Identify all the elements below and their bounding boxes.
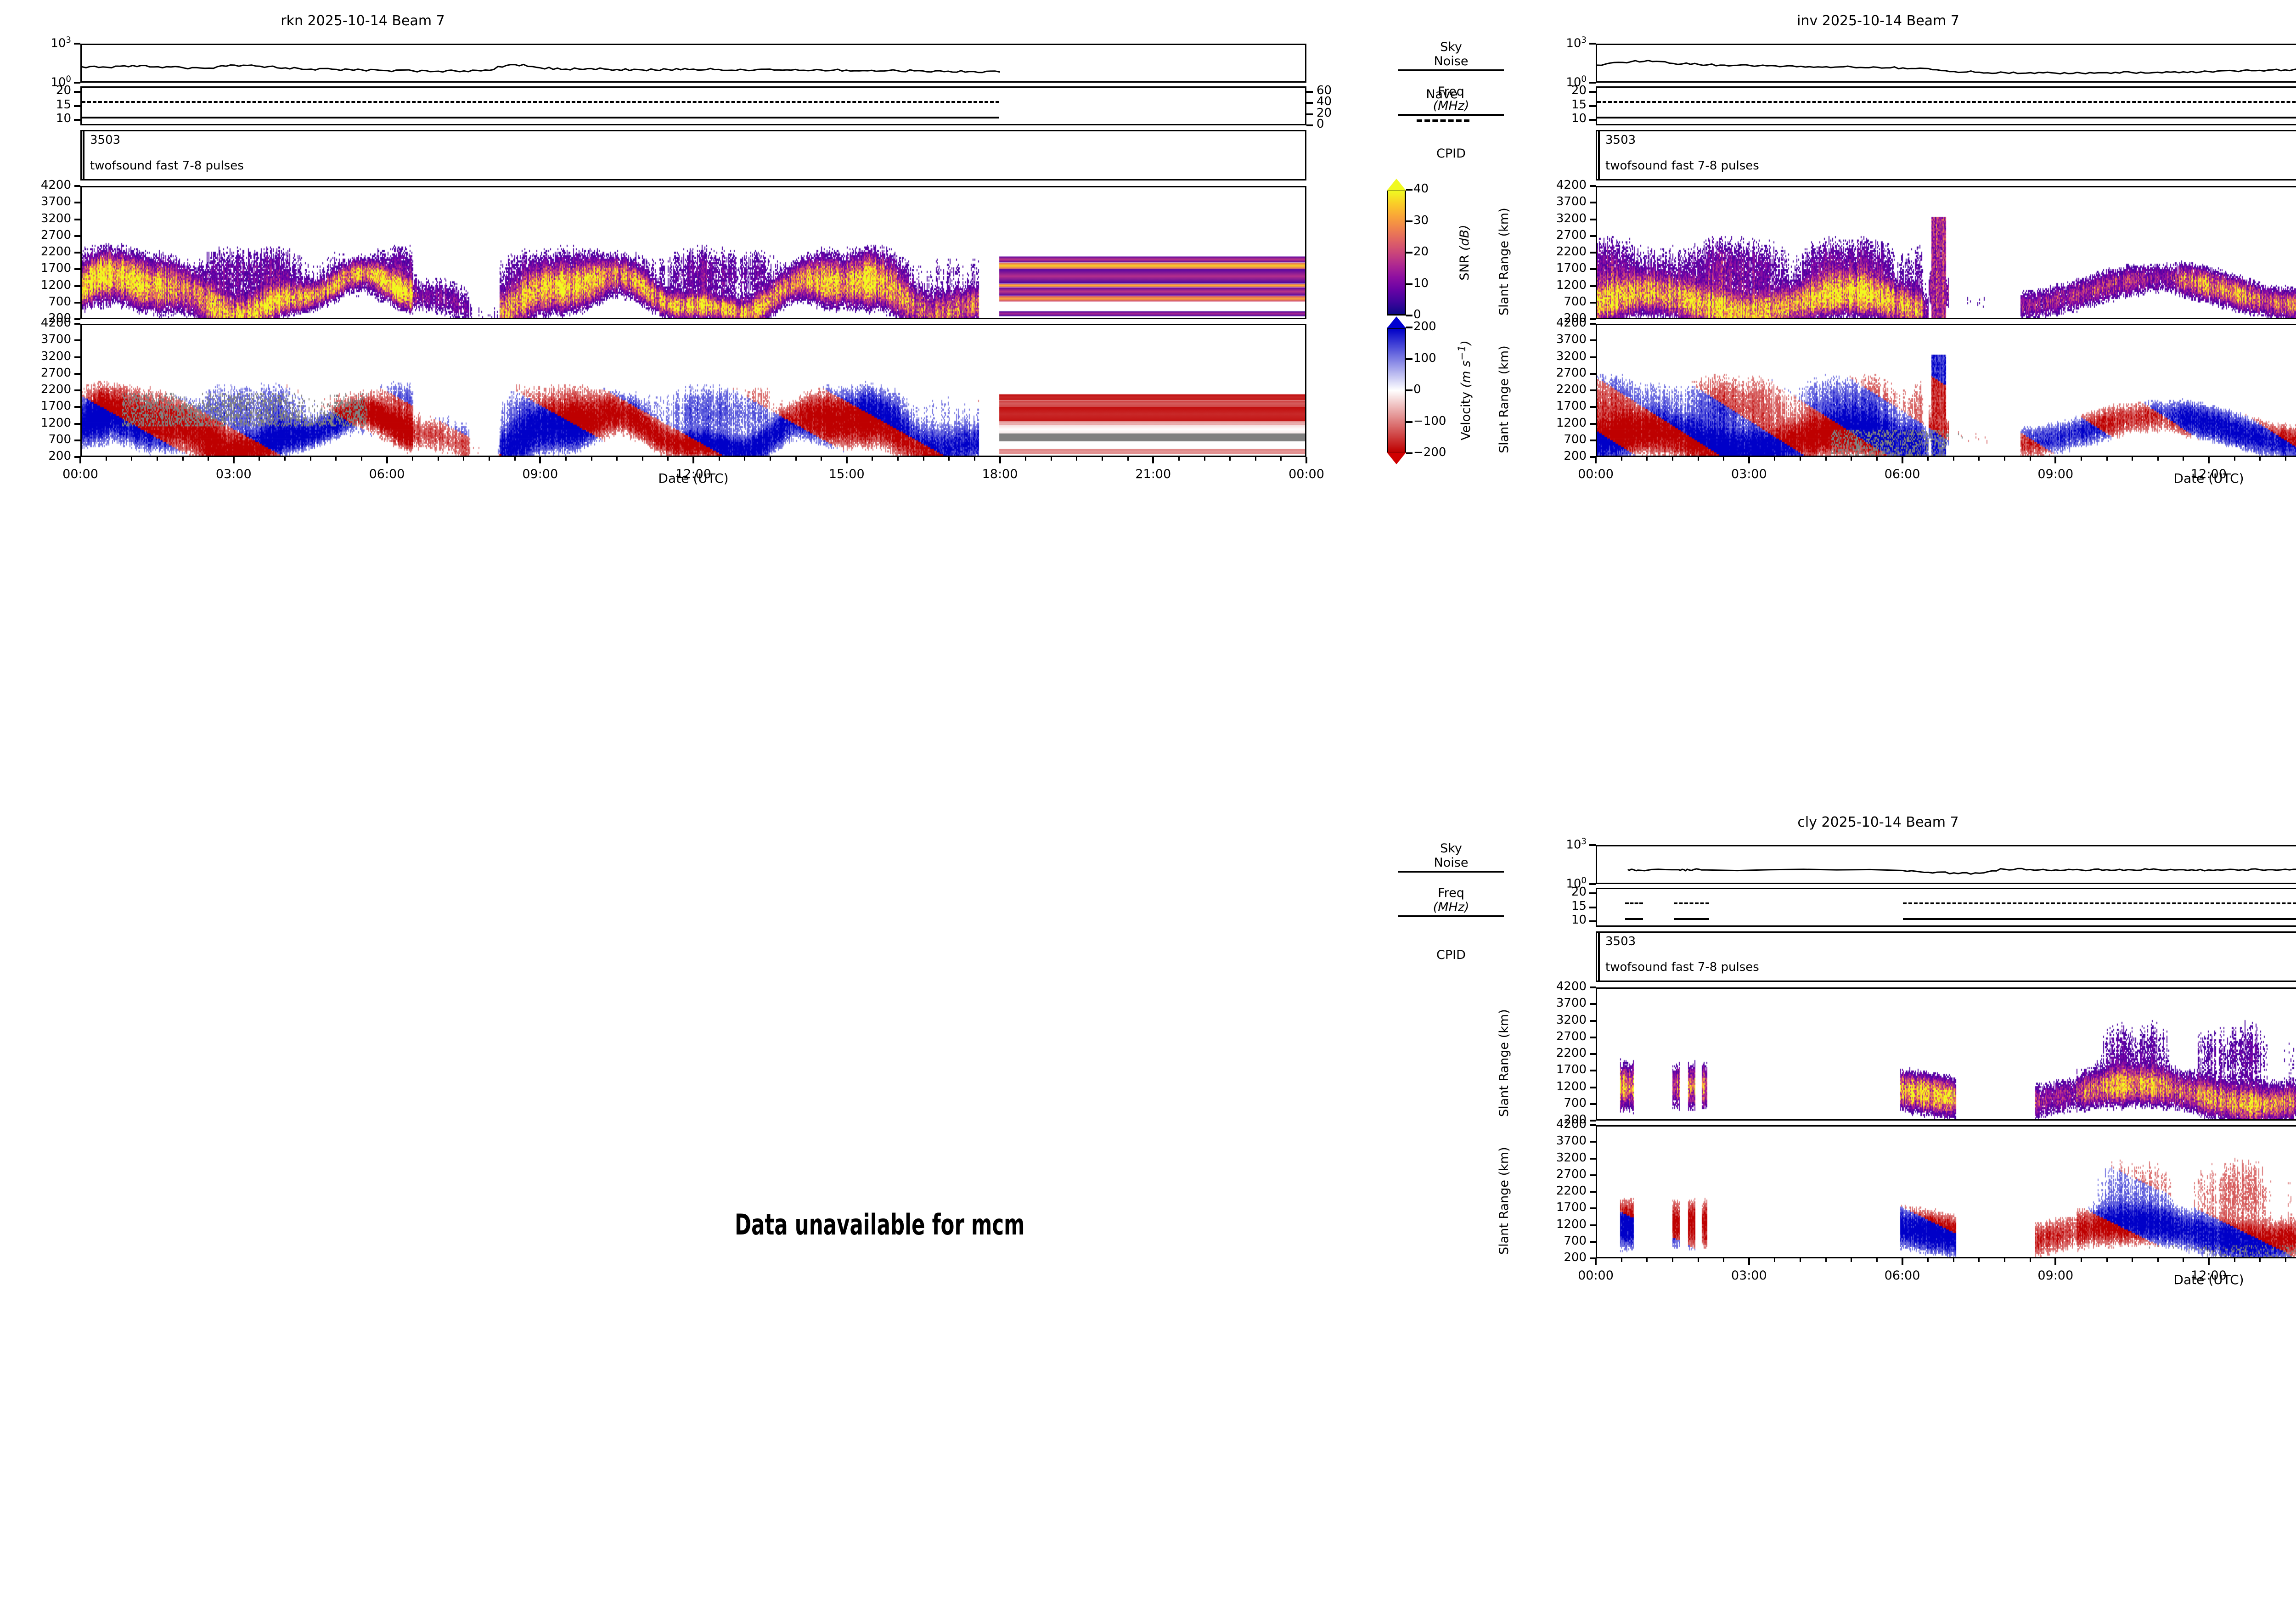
tick-mark [233,457,235,463]
tick-mark-minor [2183,1258,2184,1262]
nave-legend-dash [1417,119,1469,122]
snr-colorbar-tick: 10 [1413,276,1478,290]
cpid-name: twofsound fast 7-8 pulses [90,159,244,173]
tick-mark-minor [2234,1258,2235,1262]
time-xtick: 12:00 [2158,1268,2259,1283]
time-xtick: 09:00 [2005,467,2106,481]
tick-mark [1406,220,1412,222]
cpid-start-marker [83,131,84,179]
tick-mark-minor [897,457,899,461]
tick-mark-minor [361,457,362,461]
snr-colorbar [1387,190,1406,316]
time-xtick: 09:00 [2005,1268,2106,1283]
time-xtick: 00:00 [30,467,131,481]
velocity-colorbar [1387,327,1406,453]
tick-mark [74,302,80,304]
tick-mark-minor [335,457,337,461]
tick-mark [1590,219,1596,220]
tick-mark-minor [974,457,975,461]
tick-mark [539,457,541,463]
range-ytick: 2200 [11,245,71,259]
snr-heatmap [1597,187,2296,318]
time-xtick: 18:00 [950,467,1051,481]
tick-mark-minor [1076,457,1077,461]
range-ytick: 3200 [1527,212,1587,225]
tick-mark-minor [565,457,567,461]
freq-trace-low-band [82,117,999,118]
tick-mark-minor [106,457,107,461]
range-ytick: 3700 [1527,996,1587,1010]
velocity-heatmap [1597,325,2296,456]
time-xtick: 06:00 [1852,1268,1953,1283]
tick-mark-minor [131,457,132,461]
freq-ytick: 20 [30,84,71,97]
tick-mark-minor [2285,1258,2286,1262]
tick-mark [1589,119,1596,121]
tick-mark-minor [1698,1258,1699,1262]
tick-mark-minor [1953,457,1954,461]
tick-mark-minor [744,457,745,461]
velocity-axes-inv [1596,324,2296,457]
tick-mark [2054,1258,2056,1265]
freq-row-label: Freq(MHz) [1398,85,1504,116]
velocity-colorbar-tick: 200 [1413,320,1478,333]
snr-label-line1: SNR [1458,255,1472,281]
tick-mark [79,457,81,463]
nave-ytick: 40 [1317,95,1358,108]
time-xtick: 12:00 [2158,467,2259,481]
freq-trace-low-band [1597,117,2296,118]
tick-mark-minor [2081,1258,2082,1262]
tick-mark-minor [2030,1258,2031,1262]
tick-mark [1306,91,1313,93]
freq-trace-high-band-b [1674,902,1710,904]
tick-mark [1595,457,1597,463]
tick-mark [1590,302,1596,304]
tick-mark [1902,1258,1903,1265]
range-ytick: 200 [11,311,71,325]
nave-ytick: 60 [1317,84,1358,97]
tick-mark [74,235,80,237]
range-ytick: 3700 [11,195,71,209]
freq-ytick: 10 [30,112,71,125]
tick-mark [1748,457,1750,463]
tick-mark-minor [1825,1258,1827,1262]
tick-mark-minor [2285,457,2286,461]
tick-mark-minor [2157,1258,2159,1262]
tick-mark [1590,268,1596,270]
colorbar-cap-bottom [1387,452,1406,464]
tick-mark-minor [2183,457,2184,461]
tick-mark [74,252,80,254]
tick-mark-minor [719,457,720,461]
time-xtick: 06:00 [1852,467,1953,481]
range-ytick: 3700 [1527,195,1587,209]
tick-mark [1595,1258,1597,1265]
range-ytick: 700 [1527,295,1587,309]
range-ytick: 200 [1527,1113,1587,1127]
tick-mark [2208,1258,2210,1265]
tick-mark [74,219,80,220]
tick-mark-minor [591,457,592,461]
time-xtick: 00:00 [1545,467,1646,481]
range-ytick: 2700 [11,366,71,380]
tick-mark [74,119,80,121]
snr-colorbar-tick: 20 [1413,245,1478,259]
tick-mark [1590,1241,1596,1243]
station-panel-rkn: rkn 2025-10-14 Beam 7103100SkyNoise20151… [0,0,2296,1612]
velocity-heatmap [82,325,1305,456]
tick-mark [1590,1158,1596,1160]
tick-mark-minor [1621,457,1622,461]
range-ytick: 3200 [11,212,71,225]
tick-mark [1590,1141,1596,1143]
range-ytick: 1700 [1527,1063,1587,1077]
sky-noise-label-line1: Sky [1398,841,1504,856]
range-ytick: 4200 [11,178,71,192]
tick-mark [1589,91,1596,93]
freq-ytick: 10 [1545,112,1587,125]
snr-colorbar-tick: 40 [1413,182,1478,196]
tick-mark [1590,252,1596,254]
tick-mark [1590,389,1596,391]
tick-mark [1306,102,1313,104]
time-xtick: 00:00 [1545,1268,1646,1283]
tick-mark [1590,1053,1596,1055]
tick-mark [1589,82,1596,84]
tick-mark-minor [616,457,618,461]
range-ytick: 4200 [1527,1117,1587,1131]
cpid-number: 3503 [1605,133,1636,147]
colorbar-cap-top [1387,179,1406,191]
tick-mark [1589,43,1596,45]
tick-mark [74,456,80,458]
range-ytick: 1200 [1527,278,1587,292]
tick-mark-minor [2234,457,2235,461]
cpid-start-marker [1598,131,1600,179]
range-ytick: 2700 [1527,366,1587,380]
velocity-axes-cly [1596,1125,2296,1258]
time-xtick: 15:00 [796,467,897,481]
nave-legend-label: Nave [1401,87,1483,101]
sky-noise-ytick: 103 [1541,35,1587,51]
tick-mark [1406,452,1412,454]
range-ytick: 2200 [1527,1046,1587,1060]
time-xtick: 12:00 [643,467,744,481]
range-ytick: 3200 [11,349,71,363]
tick-mark-minor [489,457,490,461]
range-ytick: 1700 [1527,399,1587,413]
snr-colorbar-tick: 0 [1413,308,1478,321]
range-axis-label: Slant Range (km) [1497,1147,1511,1255]
range-ytick: 2700 [11,228,71,242]
tick-mark [1406,327,1412,328]
tick-mark [1589,105,1596,107]
tick-mark-minor [1723,1258,1724,1262]
tick-mark [846,457,848,463]
tick-mark [1406,189,1412,191]
freq-label-line2: (MHz) [1398,99,1504,113]
range-ytick: 3200 [1527,1013,1587,1027]
freq-ytick: 15 [1545,98,1587,112]
tick-mark-minor [1178,457,1180,461]
tick-mark [1590,185,1596,187]
tick-mark [1748,1258,1750,1265]
range-ytick: 700 [1527,1234,1587,1248]
tick-mark [1406,389,1412,391]
sky-noise-ytick: 103 [1541,837,1587,852]
range-ytick: 4200 [11,316,71,330]
tick-mark [1590,1020,1596,1022]
range-ytick: 1700 [1527,1201,1587,1214]
velocity-colorbar-tick: −200 [1413,445,1478,459]
freq-trace-high-band [1597,101,2296,103]
tick-mark-minor [208,457,209,461]
data-unavailable-message: Data unavailable for mcm [735,1208,1025,1241]
range-axis-label: Slant Range (km) [1497,208,1511,316]
tick-mark-minor [1723,457,1724,461]
tick-mark-minor [1229,457,1231,461]
sky-noise-axes-rkn [80,44,1306,83]
tick-mark-minor [259,457,260,461]
cpid-axes-inv: 3503twofsound fast 7-8 pulses [1596,130,2296,180]
snr-axes-rkn [80,186,1306,319]
tick-mark-minor [2106,1258,2108,1262]
tick-mark [74,373,80,375]
tick-mark-minor [2132,457,2133,461]
time-xtick: 03:00 [1699,1268,1800,1283]
tick-mark [999,457,1001,463]
tick-mark [1406,358,1412,360]
range-axis-label: Slant Range (km) [1497,345,1511,453]
sky-noise-row-label: SkyNoise [1398,40,1504,71]
tick-mark-minor [284,457,286,461]
range-ytick: 4200 [1527,178,1587,192]
tick-mark-minor [2259,457,2261,461]
cpid-name: twofsound fast 7-8 pulses [1605,159,1759,173]
tick-mark [1406,315,1412,316]
tick-mark-minor [1825,457,1827,461]
tick-mark-minor [2030,457,2031,461]
velocity-heatmap [1597,1127,2296,1257]
snr-axes-inv [1596,186,2296,319]
snr-colorbar-tick: 30 [1413,214,1478,227]
station-panel-inv: inv 2025-10-14 Beam 7103100SkyNoise20151… [0,0,2296,1612]
velocity-colorbar-label: Velocity (m s−1) [1457,317,1473,464]
cpid-row-label: CPID [1398,948,1504,962]
freq-nave-axes-inv [1596,86,2296,125]
cpid-name: twofsound fast 7-8 pulses [1605,960,1759,974]
tick-mark-minor [872,457,873,461]
freq-ytick: 10 [1545,913,1587,927]
freq-label-line2: (MHz) [1398,900,1504,914]
tick-mark [1590,406,1596,408]
tick-mark-minor [2157,457,2159,461]
range-ytick: 3200 [1527,349,1587,363]
tick-mark-minor [1851,457,1852,461]
tick-mark [1590,235,1596,237]
tick-mark [1406,283,1412,285]
tick-mark-minor [948,457,950,461]
tick-mark [1590,986,1596,988]
range-ytick: 1200 [1527,416,1587,430]
range-ytick: 200 [1527,1251,1587,1264]
tick-mark [74,43,80,45]
tick-mark-minor [1621,1258,1622,1262]
tick-mark-minor [438,457,439,461]
tick-mark-minor [2132,1258,2133,1262]
sky-noise-axes-cly [1596,845,2296,884]
tick-mark [1589,920,1596,922]
tick-mark [1590,1037,1596,1038]
snr-axes-cly [1596,987,2296,1121]
tick-mark-minor [1102,457,1103,461]
tick-mark [692,457,694,463]
tick-mark [74,202,80,203]
tick-mark [1590,440,1596,441]
tick-mark [1590,423,1596,425]
tick-mark [1590,1103,1596,1105]
tick-mark [1306,124,1313,126]
tick-mark [1590,456,1596,458]
tick-mark [1590,339,1596,341]
sky-noise-label-line1: Sky [1398,40,1504,54]
tick-mark [1590,1174,1596,1176]
tick-mark [74,423,80,425]
tick-mark [1306,457,1307,463]
range-ytick: 2700 [1527,1167,1587,1181]
tick-mark-minor [2004,1258,2005,1262]
tick-mark-minor [1978,1258,1980,1262]
tick-mark-minor [1774,457,1775,461]
freq-ytick: 20 [1545,885,1587,899]
velocity-axes-rkn [80,324,1306,457]
tick-mark [74,318,80,320]
tick-mark-minor [1255,457,1256,461]
tick-mark-minor [642,457,643,461]
tick-mark-minor [1280,457,1282,461]
sky-noise-row-label: SkyNoise [1398,841,1504,873]
tick-mark-minor [1876,1258,1878,1262]
range-ytick: 2200 [11,383,71,396]
tick-mark-minor [1876,457,1878,461]
tick-mark-minor [2106,457,2108,461]
range-ytick: 2200 [1527,245,1587,259]
tick-mark [1590,1224,1596,1226]
range-ytick: 3200 [1527,1151,1587,1165]
tick-mark-minor [1672,1258,1673,1262]
range-ytick: 1700 [11,261,71,275]
x-axis-label: Date (UTC) [602,471,785,486]
nave-ytick: 0 [1317,117,1358,131]
tick-mark-minor [923,457,924,461]
time-xtick: 03:00 [183,467,284,481]
tick-mark [1590,373,1596,375]
tick-mark [1902,457,1903,463]
range-ytick: 700 [11,433,71,446]
range-ytick: 3700 [1527,333,1587,346]
tick-mark [1590,1207,1596,1209]
range-ytick: 3700 [11,333,71,346]
sky-noise-ytick: 103 [25,35,71,51]
range-ytick: 700 [1527,433,1587,446]
range-ytick: 3700 [1527,1134,1587,1148]
tick-mark [1590,1003,1596,1005]
tick-mark [74,356,80,358]
time-xtick: 09:00 [490,467,591,481]
cpid-number: 3503 [90,133,120,147]
tick-mark [1590,1124,1596,1126]
tick-mark [1590,323,1596,325]
range-ytick: 200 [11,449,71,463]
tick-mark [1590,285,1596,287]
tick-mark [2054,457,2056,463]
cpid-axes-cly: 3503twofsound fast 7-8 pulses [1596,931,2296,982]
range-ytick: 2700 [1527,228,1587,242]
station-panel-cly: cly 2025-10-14 Beam 7103100SkyNoise20151… [0,0,2296,1612]
tick-mark [1590,1070,1596,1071]
tick-mark [1152,457,1154,463]
x-axis-label: Date (UTC) [2117,1272,2296,1287]
data-unavailable-clip: Data unavailable for mcm [735,1189,1469,1281]
tick-mark [1589,883,1596,885]
range-ytick: 2200 [1527,1184,1587,1198]
freq-trace-low-band-c [1903,918,2296,920]
range-ytick: 700 [1527,1096,1587,1110]
x-axis-label: Date (UTC) [2117,471,2296,486]
range-axis-label: Slant Range (km) [1497,1009,1511,1117]
range-ytick: 200 [1527,449,1587,463]
tick-mark-minor [1204,457,1205,461]
range-ytick: 4200 [1527,980,1587,993]
tick-mark-minor [1851,1258,1852,1262]
range-ytick: 1200 [11,416,71,430]
sky-noise-axes-inv [1596,44,2296,83]
tick-mark-minor [1927,1258,1929,1262]
tick-mark-minor [157,457,158,461]
tick-mark-minor [1025,457,1026,461]
velocity-label-line1: Velocity [1459,392,1473,440]
cpid-row-label: CPID [1398,147,1504,161]
freq-trace-high-band [82,101,999,103]
range-ytick: 200 [1527,311,1587,325]
panel-title-cly: cly 2025-10-14 Beam 7 [1557,814,2200,830]
tick-mark [74,82,80,84]
velocity-colorbar-tick: 0 [1413,383,1478,396]
tick-mark [1590,1087,1596,1088]
range-ytick: 1700 [1527,261,1587,275]
snr-heatmap [82,187,1305,318]
tick-mark-minor [1927,457,1929,461]
tick-mark [1590,1257,1596,1259]
tick-mark-minor [821,457,822,461]
tick-mark [386,457,388,463]
tick-mark [1406,252,1412,254]
tick-mark [74,285,80,287]
tick-mark [74,440,80,441]
snr-heatmap [1597,989,2296,1119]
freq-nave-axes-cly [1596,888,2296,927]
snr-colorbar-label: SNR (dB) [1458,179,1472,326]
colorbar-cap-top [1387,316,1406,328]
tick-mark-minor [667,457,669,461]
freq-trace-high-band-a [1625,902,1643,904]
sky-noise-ytick: 100 [1541,74,1587,90]
tick-mark [1590,202,1596,203]
velocity-label-line2: (m s−1) [1459,340,1473,388]
tick-mark [1589,907,1596,908]
freq-ytick: 15 [1545,899,1587,913]
